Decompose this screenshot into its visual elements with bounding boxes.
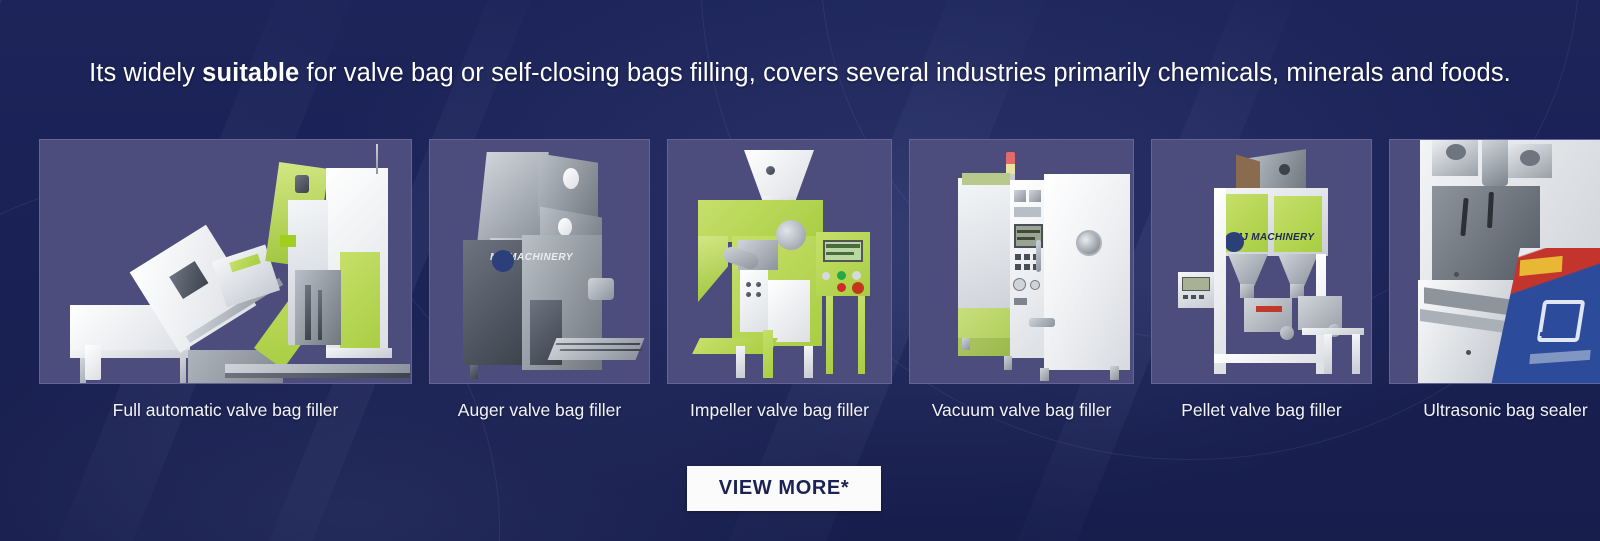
headline-emphasis: suitable bbox=[202, 59, 299, 87]
caption-vacuum: Vacuum valve bag filler bbox=[909, 396, 1134, 424]
caption-pellet: Pellet valve bag filler bbox=[1151, 396, 1372, 424]
product-caption-row: Full automatic valve bag filler Auger va… bbox=[39, 396, 1600, 424]
auger-valve-bag-filler-photo: MJ MACHINERY bbox=[430, 140, 649, 383]
product-card-strip: MJ MACHINERY bbox=[39, 139, 1600, 384]
headline-after: for valve bag or self-closing bags filli… bbox=[299, 59, 1511, 87]
headline: Its widely suitable for valve bag or sel… bbox=[0, 59, 1600, 88]
ultrasonic-bag-sealer-photo bbox=[1390, 140, 1600, 383]
view-more-button[interactable]: VIEW MORE* bbox=[687, 466, 881, 511]
product-card-ultrasonic[interactable] bbox=[1389, 139, 1600, 384]
caption-ultrasonic: Ultrasonic bag sealer bbox=[1389, 396, 1600, 424]
vacuum-valve-bag-filler-photo bbox=[910, 140, 1133, 383]
product-card-full-automatic[interactable] bbox=[39, 139, 412, 384]
caption-full-automatic: Full automatic valve bag filler bbox=[39, 396, 412, 424]
caption-auger: Auger valve bag filler bbox=[429, 396, 650, 424]
pellet-valve-bag-filler-photo: MJ MACHINERY bbox=[1152, 140, 1371, 383]
product-card-auger[interactable]: MJ MACHINERY bbox=[429, 139, 650, 384]
impeller-valve-bag-filler-photo bbox=[668, 140, 891, 383]
product-card-vacuum[interactable] bbox=[909, 139, 1134, 384]
caption-impeller: Impeller valve bag filler bbox=[667, 396, 892, 424]
product-card-pellet[interactable]: MJ MACHINERY bbox=[1151, 139, 1372, 384]
full-automatic-valve-bag-filler-photo bbox=[40, 140, 411, 383]
headline-before: Its widely bbox=[89, 59, 202, 87]
product-card-impeller[interactable] bbox=[667, 139, 892, 384]
